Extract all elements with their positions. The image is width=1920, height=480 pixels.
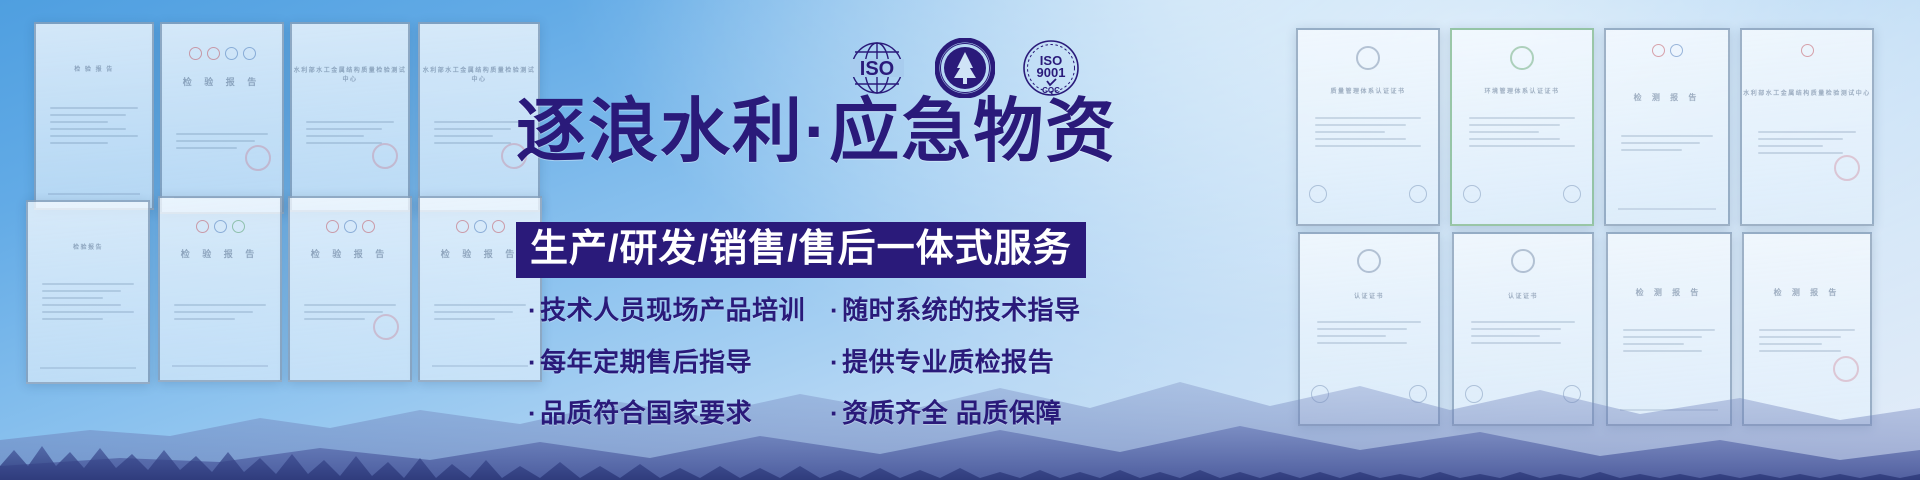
cert-logo-row (162, 45, 282, 62)
cert-emblem-icon (1357, 249, 1381, 273)
cert-body-lines (1621, 135, 1714, 156)
cert-logo-row (1606, 42, 1728, 59)
cert-seal (245, 145, 271, 171)
cert-title: 检 验 报 告 (160, 247, 280, 260)
feature-label: 提供专业质检报告 (842, 347, 1054, 377)
cert-title: 检 验 报 告 (290, 247, 410, 260)
cert-system-doc-2: 认证证书 (1452, 232, 1594, 426)
feature-label: 技术人员现场产品培训 (540, 295, 805, 325)
cert-footer-rule (432, 365, 528, 367)
cert-body-lines (1315, 117, 1421, 152)
cert-title: 认证证书 (1300, 291, 1438, 300)
cert-logo-row (160, 218, 280, 234)
cert-accreditation-badges (1463, 185, 1581, 203)
bullet-icon: · (528, 295, 537, 325)
cert-detection-report-4: 检 测 报 告 (1742, 232, 1872, 426)
promo-banner: 检 验 报 告 检 验 报 告 水利部水工金属结构质量检验测试中心 水利部水工金… (0, 0, 1920, 480)
cert-logo-row (290, 218, 410, 234)
cert-footer-rule (1618, 208, 1716, 210)
cert-inspection-report-3: 检 验 报 告 (288, 196, 412, 382)
cert-lab-report-en: 检验报告 (26, 200, 150, 384)
iso-badge-label: ISO (860, 58, 894, 80)
cert-emblem-icon (1511, 249, 1535, 273)
cert-title: 检 验 报 告 (162, 75, 282, 88)
feature-label: 资质齐全 品质保障 (842, 398, 1062, 428)
cert-inspection-report-en: 检 验 报 告 (34, 22, 154, 210)
cert-accreditation-badges (1309, 185, 1427, 203)
cert-body-lines (1469, 117, 1575, 152)
cert-inspection-report-1: 检 验 报 告 (160, 22, 284, 214)
feature-item: ·提供专业质检报告 (830, 348, 1081, 377)
cert-title: 水利部水工金属结构质量检验测试中心 (1742, 88, 1872, 97)
bullet-icon: · (830, 398, 839, 428)
cert-system-doc: 认证证书 (1298, 232, 1440, 426)
cert-accreditation-badges (1465, 385, 1581, 403)
cert-body-lines (42, 283, 133, 325)
cert-title: 检 验 报 告 (36, 64, 152, 73)
cert-detection-report-1: 检 测 报 告 (1604, 28, 1730, 226)
cert-title: 质量管理体系认证证书 (1298, 86, 1438, 95)
cert-seal (373, 314, 399, 340)
cert-title: 检 测 报 告 (1606, 92, 1728, 103)
iso9001-cqc-badge: ISO 9001 CQC (1021, 38, 1081, 98)
cert-title: 认证证书 (1454, 291, 1592, 300)
bullet-icon: · (528, 398, 537, 428)
cert-detection-report-2: 水利部水工金属结构质量检验测试中心 (1740, 28, 1874, 226)
feature-item: ·随时系统的技术指导 (830, 296, 1081, 325)
cert-body-lines (174, 304, 265, 325)
cert-quality-system: 质量管理体系认证证书 (1296, 28, 1440, 226)
cert-body-lines (1317, 321, 1422, 349)
feature-item: ·资质齐全 品质保障 (830, 399, 1081, 428)
cert-title: 环境管理体系认证证书 (1452, 86, 1592, 95)
cert-body-lines (1759, 329, 1855, 357)
bullet-icon: · (830, 347, 839, 377)
feature-label: 随时系统的技术指导 (842, 295, 1081, 325)
cert-footer-rule (48, 193, 141, 195)
cert-title: 水利部水工金属结构质量检验测试中心 (420, 65, 538, 83)
cert-footer-rule (172, 365, 268, 367)
iso9001-badge-label-bottom: 9001 (1037, 65, 1066, 80)
cert-body-lines (1471, 321, 1576, 349)
cert-emblem-icon (1356, 46, 1380, 70)
cert-test-report-1: 水利部水工金属结构质量检验测试中心 (290, 22, 410, 212)
cert-title: 检 测 报 告 (1744, 287, 1870, 298)
cert-emblem-icon (1510, 46, 1534, 70)
cert-title: 检 测 报 告 (1608, 287, 1730, 298)
bullet-icon: · (528, 347, 537, 377)
iso14000-badge (935, 38, 995, 98)
page-title: 逐浪水利·应急物资 (516, 96, 1117, 166)
feature-label: 品质符合国家要求 (540, 398, 752, 428)
iso-globe-badge: ISO (845, 38, 909, 98)
cert-body-lines (50, 107, 138, 149)
subtitle-banner: 生产/研发/销售/售后一体式服务 (516, 222, 1086, 278)
cert-seal (1834, 155, 1860, 181)
feature-item: ·技术人员现场产品培训 (528, 296, 804, 325)
cert-body-lines (1758, 131, 1857, 159)
feature-list: ·技术人员现场产品培训 ·随时系统的技术指导 ·每年定期售后指导 ·提供专业质检… (528, 296, 1081, 428)
feature-item: ·品质符合国家要求 (528, 399, 804, 428)
feature-item: ·每年定期售后指导 (528, 348, 804, 377)
cert-seal (1833, 356, 1859, 382)
cert-title: 检验报告 (28, 242, 148, 251)
cert-accreditation-badges (1311, 385, 1427, 403)
cert-logo-row (1742, 42, 1872, 59)
cert-title: 水利部水工金属结构质量检验测试中心 (292, 65, 408, 83)
cert-body-lines (1623, 329, 1716, 357)
cert-seal (372, 143, 398, 169)
cert-footer-rule (1620, 409, 1718, 411)
cert-environment-system: 环境管理体系认证证书 (1450, 28, 1594, 226)
feature-label: 每年定期售后指导 (540, 347, 752, 377)
cert-body-lines (434, 304, 525, 325)
bullet-icon: · (830, 295, 839, 325)
cert-footer-rule (40, 367, 136, 369)
cert-inspection-report-2: 检 验 报 告 (158, 196, 282, 382)
cert-detection-report-3: 检 测 报 告 (1606, 232, 1732, 426)
